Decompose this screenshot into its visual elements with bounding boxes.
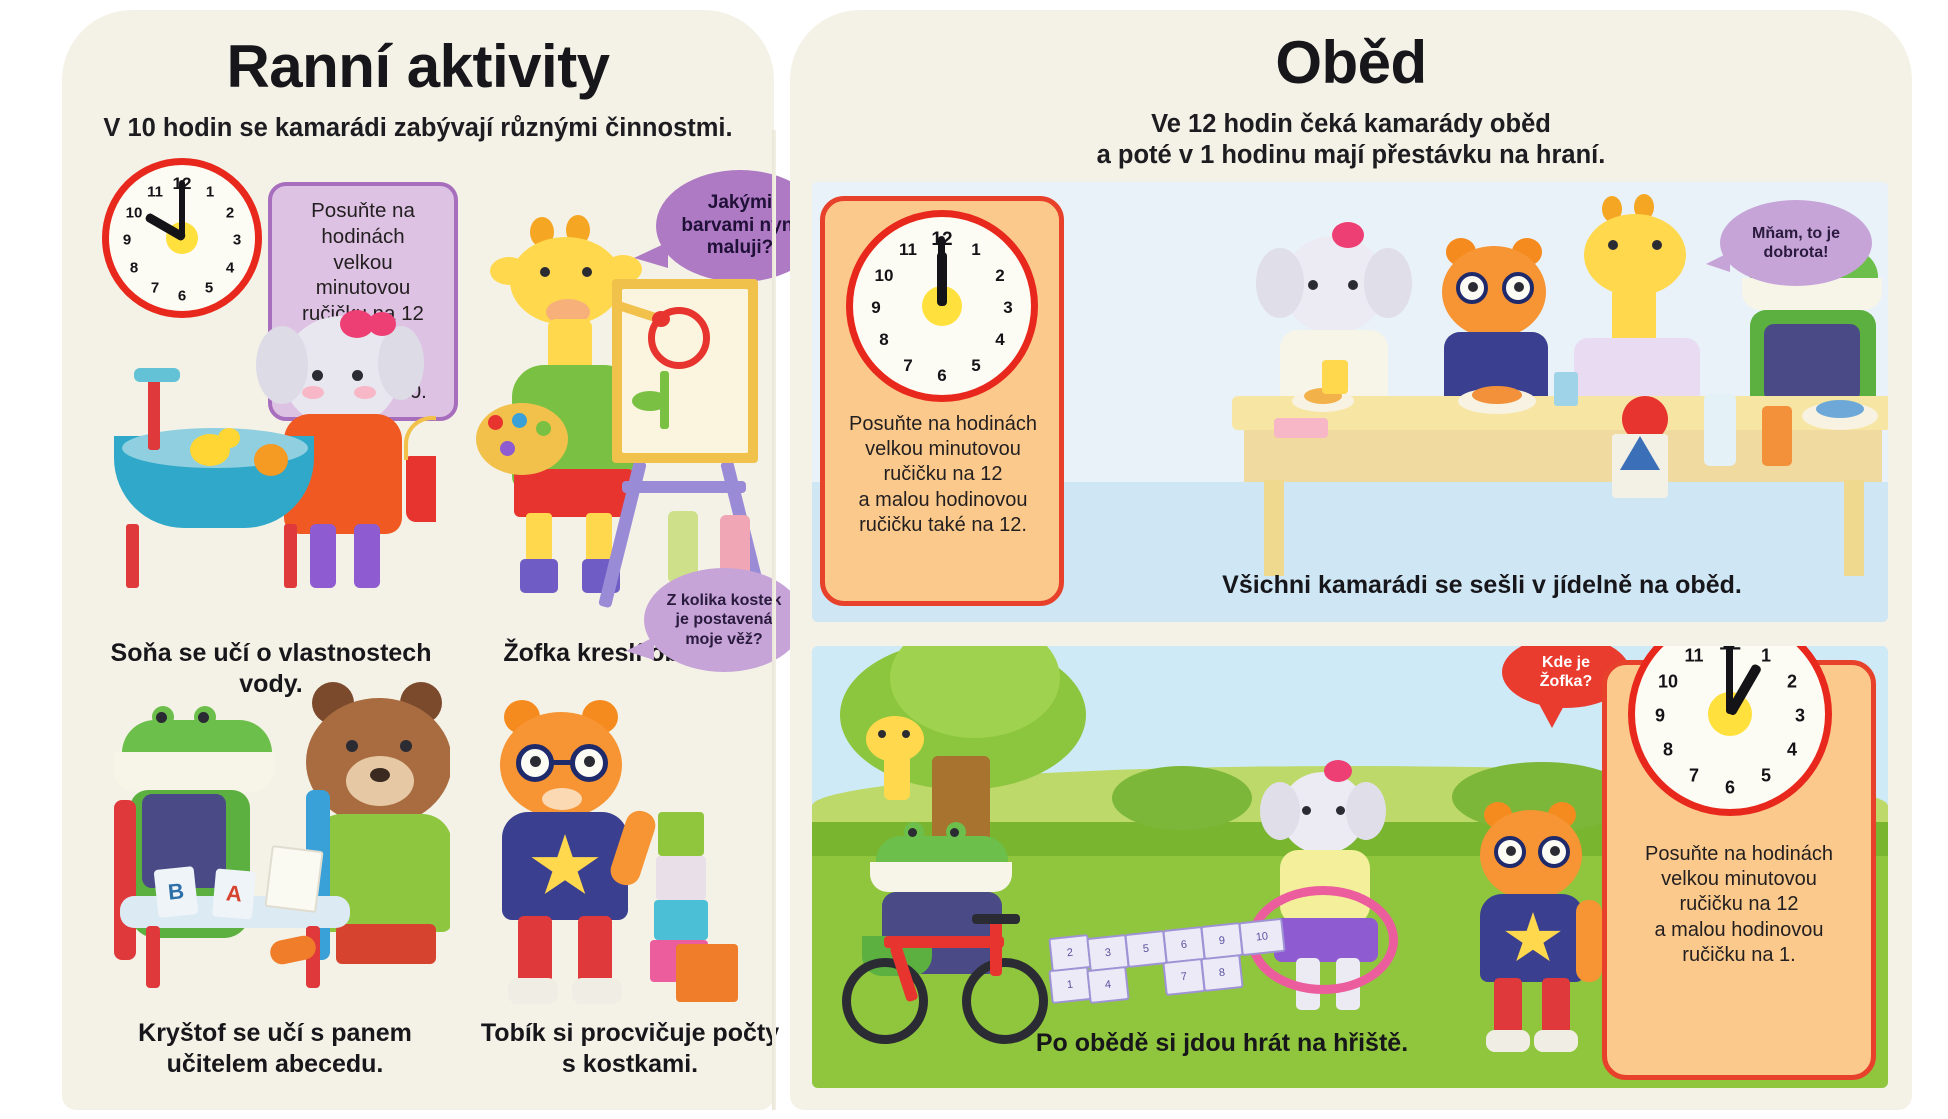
clock-number-10: 10 — [875, 266, 894, 286]
caption-play-line-1: Po obědě si jdou hrát na hřiště. — [872, 1028, 1572, 1059]
elephant-cheek-left — [302, 386, 324, 399]
bear-eye-right — [400, 740, 412, 752]
elephant-eye-right-play — [1336, 806, 1345, 815]
bubble-tobik-line-3: moje věž? — [667, 630, 782, 649]
elephant-bow-play-icon — [1324, 760, 1352, 782]
clock-number-3: 3 — [233, 232, 241, 249]
food-crocodile — [1816, 400, 1864, 418]
tap-handle — [134, 368, 180, 382]
block-white[interactable] — [656, 856, 706, 900]
palette-dot-green — [536, 421, 551, 436]
scene-tobik-blocks — [472, 700, 792, 1010]
bubble-kde-line-2: Žofka? — [1540, 672, 1592, 691]
clock-ten-oclock[interactable]: 12 1 2 3 4 5 6 7 8 9 10 11 — [102, 158, 262, 318]
painting-leaf — [632, 391, 668, 411]
clock-number-8: 8 — [879, 330, 888, 350]
hopscotch-cell-2[interactable]: 2 — [1048, 934, 1091, 972]
caption-play: Po obědě si jdou hrát na hřiště. — [872, 1028, 1572, 1059]
elephant-ear-right-lunch — [1364, 248, 1412, 318]
giraffe-eye-right-lunch — [1652, 240, 1662, 250]
palette-dot-blue — [512, 413, 527, 428]
bike-fork — [990, 920, 1002, 976]
clock-number-6: 6 — [178, 288, 186, 305]
juice-bottle — [1762, 406, 1792, 466]
crocodile-overalls-lunch — [1764, 324, 1860, 402]
elephant-ear-left — [256, 326, 308, 404]
dining-table-leg-right — [1844, 480, 1864, 576]
panel-lunchroom: 12 1 2 3 4 5 6 7 8 9 10 11 Posuňte na ho… — [812, 182, 1888, 622]
tiger-eye-right-play — [1550, 846, 1560, 856]
chair-back-left — [114, 800, 136, 960]
giraffe-ear-left — [490, 257, 528, 285]
crocodile-eye-right-play — [950, 828, 959, 837]
caption-tobik: Tobík si procvičuje počty s kostkami. — [462, 1018, 798, 1079]
clock-number-2: 2 — [995, 266, 1004, 286]
hopscotch-cell-4[interactable]: 4 — [1086, 966, 1129, 1004]
tiger-leg-left — [518, 916, 552, 984]
water-bottle — [1704, 394, 1736, 466]
elephant-eye-left-lunch — [1308, 280, 1318, 290]
clock-number-3: 3 — [1795, 706, 1805, 727]
tiger-eye-right — [584, 756, 595, 767]
tiger-glasses-bridge — [552, 760, 572, 765]
palette-dot-red — [488, 415, 503, 430]
red-bucket — [406, 456, 436, 522]
paintbrush-tip — [652, 311, 670, 327]
elephant-bow-lunch-icon — [1332, 222, 1364, 248]
right-page: Oběd Ve 12 hodin čeká kamarády oběd a po… — [790, 10, 1912, 1110]
clock-number-9: 9 — [123, 232, 131, 249]
scene-sona-water — [106, 310, 436, 610]
instruction-line-2: velkou minutovou — [286, 250, 440, 302]
clock-number-6: 6 — [1725, 778, 1735, 799]
giraffe-peek-eye-left — [878, 730, 886, 738]
crocodile-snout — [114, 752, 274, 792]
clock-number-9: 9 — [1655, 706, 1665, 727]
tub-leg-left — [126, 524, 139, 588]
letter-card-a[interactable]: A — [212, 868, 256, 919]
giraffe-body-lunch — [1574, 338, 1700, 400]
left-page-subtitle: V 10 hodin se kamarádi zabývají různými … — [62, 113, 774, 144]
clock-hour-hand[interactable] — [937, 252, 947, 306]
elephant-eye-left-play — [1302, 806, 1311, 815]
tiger-shoe-left — [508, 978, 558, 1004]
caption-lunch-line-1: Všichni kamarádi se sešli v jídelně na o… — [1092, 570, 1872, 601]
giraffe-eye-right — [582, 267, 592, 277]
clock-number-11: 11 — [899, 240, 917, 260]
easel-tray — [622, 481, 746, 493]
bike-frame-top — [884, 936, 1004, 948]
clock-number-5: 5 — [205, 280, 213, 297]
instruction-text-play: Posuňte na hodinách velkou minutovou ruč… — [1616, 842, 1862, 968]
paper-sheet — [264, 845, 323, 913]
hopscotch-cell-10[interactable]: 10 — [1238, 918, 1285, 956]
clock-number-11: 11 — [147, 184, 163, 201]
instruction-play-line-4: a malou hodinovou — [1616, 918, 1862, 943]
instruction-text-lunch: Posuňte na hodinách velkou minutovou ruč… — [836, 412, 1050, 538]
clock-number-8: 8 — [1663, 740, 1673, 761]
elephant-ear-left-play — [1260, 782, 1300, 840]
clock-number-9: 9 — [871, 298, 880, 318]
hopscotch-cell-5[interactable]: 5 — [1124, 930, 1167, 968]
food-tiger — [1472, 386, 1522, 404]
book-spread: Ranní aktivity V 10 hodin se kamarádi za… — [0, 0, 1948, 1119]
bubble-tail-icon — [1706, 252, 1730, 272]
palette-dot-purple — [500, 441, 515, 456]
giraffe-skirt — [514, 469, 634, 517]
clock-number-1: 1 — [971, 240, 980, 260]
giraffe-peek-neck — [884, 754, 910, 800]
tiger-leg-right-play — [1542, 978, 1570, 1034]
rubber-duck-head — [218, 428, 240, 448]
left-page: Ranní aktivity V 10 hodin se kamarádi za… — [62, 10, 774, 1110]
block-blue[interactable] — [654, 900, 708, 940]
clock-number-1: 1 — [206, 184, 214, 201]
clock-number-10: 10 — [126, 205, 143, 222]
caption-krystof-line-1: Kryštof se učí s panem — [100, 1018, 450, 1049]
instruction-lunch-line-4: a malou hodinovou — [836, 488, 1050, 513]
bubble-tail-icon — [1538, 702, 1566, 728]
speech-bubble-tobik: Z kolika kostek je postavená moje věž? — [644, 568, 804, 672]
classroom-table-leg-left — [146, 926, 160, 988]
giraffe-head-lunch — [1584, 214, 1686, 296]
clock-number-10: 10 — [1658, 672, 1678, 693]
clock-number-7: 7 — [151, 280, 159, 297]
caption-krystof-line-2: učitelem abecedu. — [100, 1049, 450, 1080]
tiger-shoe-right — [572, 978, 622, 1004]
elephant-leg-left — [310, 524, 336, 588]
clock-number-7: 7 — [903, 356, 912, 376]
clock-number-5: 5 — [1761, 766, 1771, 787]
tiger-eye-left — [530, 756, 541, 767]
clock-number-7: 7 — [1689, 766, 1699, 787]
tiger-muzzle — [542, 788, 582, 810]
crocodile-eye-left — [156, 712, 167, 723]
clock-number-3: 3 — [1003, 298, 1012, 318]
bush-left — [1112, 766, 1252, 830]
elephant-cheek-right — [354, 386, 376, 399]
right-page-subtitle: Ve 12 hodin čeká kamarády oběd a poté v … — [790, 109, 1912, 171]
instruction-play-line-5: ručičku na 1. — [1616, 943, 1862, 968]
clock-number-4: 4 — [226, 260, 234, 277]
tiger-tail-play — [1576, 900, 1602, 982]
caption-krystof: Kryštof se učí s panem učitelem abecedu. — [100, 1018, 450, 1079]
instruction-play-line-3: ručičku na 12 — [1616, 892, 1862, 917]
bubble-croc-line-2: dobrota! — [1752, 243, 1840, 262]
bike-handlebar — [972, 914, 1020, 924]
elephant-leg-right — [354, 524, 380, 588]
giraffe-boot-left — [520, 559, 558, 593]
starfish-toy — [254, 444, 288, 476]
glass-tiger — [1554, 372, 1578, 406]
block-green-top[interactable] — [658, 812, 704, 856]
elephant-eye-right — [352, 370, 363, 381]
elephant-ear-right — [378, 326, 424, 400]
crocodile-eye-right — [198, 712, 209, 723]
elephant-bow-icon-2 — [368, 312, 396, 336]
tiger-eye-left-play — [1506, 846, 1516, 856]
bear-eye-left — [346, 740, 358, 752]
clock-number-5: 5 — [971, 356, 980, 376]
bubble-tobik-line-1: Z kolika kostek — [667, 591, 782, 610]
instruction-play-line-2: velkou minutovou — [1616, 867, 1862, 892]
elephant-ear-right-play — [1346, 782, 1386, 840]
tiger-eye-left-lunch — [1468, 282, 1478, 292]
giraffe-peek-eye-right — [902, 730, 910, 738]
clock-number-1: 1 — [1761, 646, 1771, 667]
bubble-zofka-line-1: Jakými — [681, 192, 798, 215]
scene-zofka-painting — [462, 215, 792, 615]
bubble-tail-icon — [626, 637, 654, 660]
clock-number-2: 2 — [226, 205, 234, 222]
tiger-eye-right-lunch — [1514, 282, 1524, 292]
crocodile-eye-left-play — [908, 828, 917, 837]
clock-number-11: 11 — [1684, 646, 1703, 667]
right-page-title: Oběd — [790, 28, 1912, 97]
clock-number-8: 8 — [130, 260, 138, 277]
crocodile-snout-play — [870, 862, 1012, 892]
caption-tobik-line-1: Tobík si procvičuje počty — [462, 1018, 798, 1049]
tiger-leg-left-play — [1494, 978, 1522, 1034]
instruction-lunch-line-5: ručičku také na 12. — [836, 513, 1050, 538]
instruction-lunch-line-1: Posuňte na hodinách — [836, 412, 1050, 437]
bucket-handle — [404, 416, 436, 460]
bubble-tobik-line-2: je postavená — [667, 610, 782, 629]
clock-number-4: 4 — [995, 330, 1004, 350]
left-page-title: Ranní aktivity — [62, 32, 774, 101]
scene-krystof-alphabet: B A — [100, 682, 450, 1002]
block-orange[interactable] — [676, 944, 738, 1002]
hopscotch-cell-7[interactable]: 7 — [1162, 958, 1205, 996]
letter-card-b[interactable]: B — [154, 866, 199, 918]
clock-twelve-oclock[interactable]: 12 1 2 3 4 5 6 7 8 9 10 11 — [846, 210, 1038, 402]
clock-number-2: 2 — [1787, 672, 1797, 693]
caption-tobik-line-2: s kostkami. — [462, 1049, 798, 1080]
right-subtitle-line-2: a poté v 1 hodinu mají přestávku na hran… — [808, 140, 1894, 171]
lunchbox-elephant — [1274, 418, 1328, 438]
elephant-eye-left — [312, 370, 323, 381]
tub-leg-right — [284, 524, 297, 588]
clock-one-oclock[interactable]: 12 1 2 3 4 5 6 7 8 9 10 11 — [1628, 646, 1832, 816]
giraffe-eye-left-lunch — [1608, 240, 1618, 250]
caption-lunch: Všichni kamarádi se sešli v jídelně na o… — [1092, 570, 1872, 601]
clock-number-4: 4 — [1787, 740, 1797, 761]
hopscotch-cell-9[interactable]: 9 — [1200, 922, 1243, 960]
elephant-ear-left-lunch — [1256, 248, 1304, 318]
clock-number-6: 6 — [937, 366, 946, 386]
bubble-kde-line-1: Kde je — [1540, 653, 1592, 672]
instruction-play-line-1: Posuňte na hodinách — [1616, 842, 1862, 867]
dining-table-leg-left — [1264, 480, 1284, 576]
cup-elephant — [1322, 360, 1348, 394]
instruction-line-1: Posuňte na hodinách — [286, 198, 440, 250]
instruction-lunch-line-2: velkou minutovou — [836, 437, 1050, 462]
tiger-leg-right — [578, 916, 612, 984]
panel-playground: 1 2 3 4 5 6 7 8 9 10 Kde je Žofka? Po ob… — [812, 646, 1888, 1088]
bear-trousers — [336, 924, 436, 964]
bubble-croc-line-1: Mňam, to je — [1752, 224, 1840, 243]
right-subtitle-line-1: Ve 12 hodin čeká kamarády oběd — [808, 109, 1894, 140]
tap-pipe — [148, 376, 160, 450]
giraffe-eye-left — [540, 267, 550, 277]
elephant-eye-right-lunch — [1348, 280, 1358, 290]
bear-nose — [370, 768, 390, 782]
speech-bubble-crocodile: Mňam, to je dobrota! — [1720, 200, 1872, 286]
instruction-lunch-line-3: ručičku na 12 — [836, 462, 1050, 487]
